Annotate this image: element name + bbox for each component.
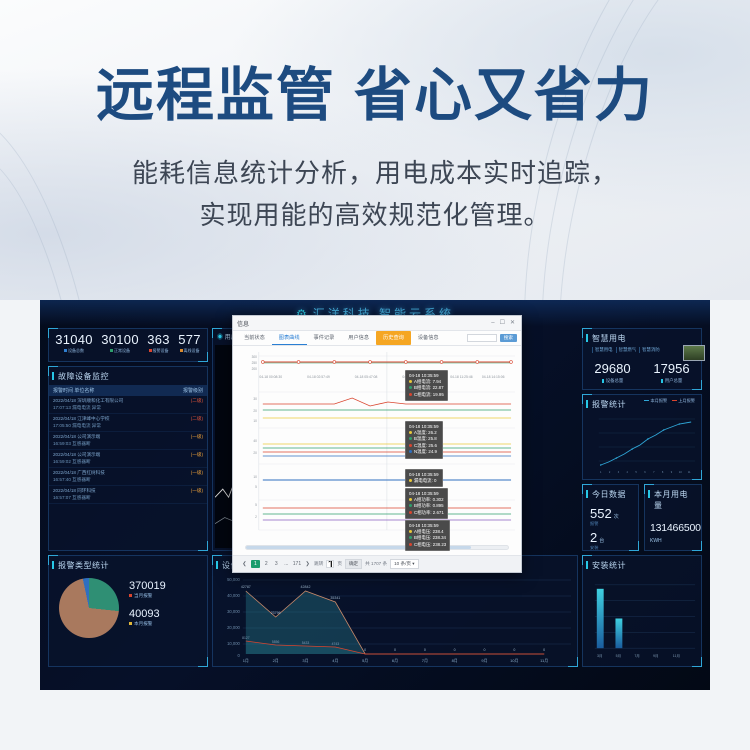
alarm-stats-panel: 报警统计 本月报警 上月报警 123 456 789 [582,394,702,480]
panel-title: 故障设备监控 [49,367,207,385]
smart-tab-power[interactable]: 智慧用电 [592,347,613,353]
svg-text:11月: 11月 [540,658,548,663]
legend-value: 370019 [129,580,166,592]
tab-current-status[interactable]: 当前状态 [237,331,272,345]
today-alarm: 552次 报警 [583,503,638,527]
row-time: 2022/04/18 同环科技 [53,488,96,494]
svg-text:50,000: 50,000 [227,577,240,582]
tab-event-log[interactable]: 事件记录 [307,331,342,345]
column-header-time: 报警时间 单位名称 [53,387,183,394]
row-time: 2022/04/18 公司演示端 [53,434,100,440]
row-detail: 16:59:02 互感器断 [53,459,203,465]
svg-text:4: 4 [627,470,629,474]
pie-chart[interactable] [59,578,119,638]
legend-value: 40093 [129,608,166,620]
dashboard-screenshot: ⚙汇洋科技 智能云系统 31040 设备总数 30100 正常设备 363 报警… [40,300,710,690]
page-headline: 远程监管 省心又省力 [0,62,750,130]
svg-text:5: 5 [255,485,257,489]
svg-text:23796: 23796 [271,611,281,615]
modal-title-bar: 信息 – ☐ ✕ [233,316,521,331]
svg-text:2月: 2月 [273,658,279,663]
kpi-panel: 31040 设备总数 30100 正常设备 363 报警设备 577 离线设备 [48,328,208,362]
kpi-label: 离线设备 [178,348,201,354]
svg-text:04-18 00:08:30: 04-18 00:08:30 [259,375,282,379]
row-level: (二级) [191,398,203,404]
maximize-icon[interactable]: ☐ [500,320,505,326]
kpi-item-total[interactable]: 31040 设备总数 [55,332,93,354]
svg-text:5: 5 [635,470,637,474]
subheadline-line-2: 实现用能的高效规范化管理。 [0,194,750,236]
window-controls: – ☐ ✕ [491,320,517,326]
svg-text:3: 3 [618,470,620,474]
svg-text:2: 2 [609,470,611,474]
modal-title: 信息 [237,319,491,328]
go-button[interactable]: 确定 [345,559,362,569]
minimize-icon[interactable]: – [491,320,494,326]
legend-current: 本月报警 [644,398,667,404]
table-row[interactable]: 2022/04/18 江津峰中心学校(二级) 17:05:50 漏电电流 异常 [49,414,207,432]
search-button[interactable]: 搜索 [500,334,517,342]
svg-text:7月: 7月 [634,653,639,658]
smart-tab-fire[interactable]: 智慧消防 [639,347,660,353]
legend-label: 当月报警 [129,593,166,599]
page-last[interactable]: 171 [293,561,301,567]
svg-text:250: 250 [252,361,258,365]
pagination-bar: ❮ 1 2 3 ... 171 ❯ 跳转 页 确定 共 1707 条 10 条/… [233,555,521,572]
tooltip-row: C相电流: 19.95 [409,392,444,398]
panel-title: 报警类型统计 [49,556,207,574]
kpi-value: 363 [147,332,170,347]
svg-text:10: 10 [253,419,257,423]
value: 29680 [594,361,630,376]
svg-text:2: 2 [255,515,257,519]
fault-table-body: 2022/04/18 深圳顺和化工有限公司(二级) 17:07:13 漏电电流 … [49,396,207,504]
area-chart[interactable]: 50,000 40,000 30,000 20,000 10,000 0 427… [215,570,575,664]
svg-text:35341: 35341 [330,596,340,600]
svg-text:40: 40 [253,439,257,443]
svg-text:11月: 11月 [673,653,680,658]
svg-text:0: 0 [364,648,366,652]
chart-svg: 04-18 00:08:30 04-18 02:57:49 04-18 05:4… [237,348,517,538]
kpi-item-normal[interactable]: 30100 正常设备 [101,332,139,354]
tooltip-time: 04-18 10:35:59 [409,472,439,477]
alarm-type-pie-panel: 报警类型统计 370019 当月报警 40093 本月报警 [48,555,208,667]
row-level: (一级) [191,488,203,494]
svg-text:1月: 1月 [243,658,249,663]
svg-text:6: 6 [644,470,646,474]
legend-previous: 上月报警 [672,398,695,404]
svg-text:7: 7 [653,470,655,474]
row-detail: 16:57:40 互感器断 [53,477,203,483]
tooltip-power: 04-18 10:35:59 A相功率: 0.302 B相功率: 0.895 C… [405,488,448,519]
pie-chart-wrap: 370019 当月报警 40093 本月报警 [49,574,207,638]
page-2[interactable]: 2 [263,561,270,567]
svg-text:9月: 9月 [653,653,658,658]
page-jump-input[interactable] [326,560,334,568]
svg-text:7月: 7月 [422,658,428,663]
svg-text:10,000: 10,000 [227,641,240,646]
svg-text:42842: 42842 [301,585,311,589]
row-time: 2022/04/18 公司演示端 [53,452,100,458]
location-dot-icon: ◉ [217,335,223,341]
consumption-unit: KWH [645,534,701,544]
svg-text:5月: 5月 [362,658,368,663]
tab-history-query[interactable]: 历史查询 [376,331,411,345]
svg-text:30,000: 30,000 [227,609,240,614]
chevron-down-icon: ▾ [412,561,414,566]
svg-text:0: 0 [454,648,456,652]
svg-text:11: 11 [688,470,691,474]
tooltip-current: 04-18 10:35:59 A相电流: 7.94 B相电流: 22.87 C相… [405,370,448,401]
svg-text:0: 0 [238,653,241,658]
jump-label: 跳转 [314,561,323,567]
tooltip-row: C相电压: 238.23 [409,542,446,548]
multi-series-chart[interactable]: 04-18 00:08:30 04-18 02:57:49 04-18 05:4… [237,348,517,538]
smart-value-devices: 29680 设备总量 [594,361,630,384]
panel-title: 今日数据 [583,485,638,503]
page-3[interactable]: 3 [273,561,280,567]
smart-value-users: 17956 用户总量 [653,361,689,384]
svg-text:10: 10 [679,470,682,474]
svg-text:20,000: 20,000 [227,625,240,630]
horizontal-scrollbar[interactable] [245,545,509,550]
svg-text:5: 5 [255,503,257,507]
row-level: (二级) [191,416,203,422]
page-subheadline: 能耗信息统计分析，用电成本实时追踪， 实现用能的高效规范化管理。 [0,152,750,236]
install-bar-svg: 3月5月7月 9月11月 [585,571,699,664]
kpi-value: 577 [178,332,201,347]
svg-text:0: 0 [424,648,426,652]
svg-text:0: 0 [543,648,545,652]
total-count: 共 1707 条 [365,561,387,567]
info-modal: 信息 – ☐ ✕ 当前状态 图表曲线 事件记录 用户信息 历史查询 设备信息 搜… [232,315,522,573]
row-level: (一级) [191,452,203,458]
tooltip-time: 04-18 10:35:59 [409,424,439,429]
value: 2台 [590,530,638,545]
page-unit: 页 [337,561,342,567]
tooltip-time: 04-18 10:35:59 [409,373,444,378]
svg-text:0: 0 [394,648,396,652]
svg-text:5月: 5月 [616,653,621,658]
alarm-line-svg: 123 456 789 1011 [585,411,699,477]
today-install: 2台 安装 [583,527,638,551]
page-size-select[interactable]: 10 条/页 ▾ [390,559,418,569]
subheadline-line-1: 能耗信息统计分析，用电成本实时追踪， [0,152,750,194]
svg-text:4743: 4743 [332,642,340,646]
row-detail: 16:59:03 互感器断 [53,441,203,447]
tooltip-time: 04-18 10:35:59 [409,491,444,496]
kpi-item-alarm[interactable]: 363 报警设备 [147,332,170,354]
tooltip-row: 漏电电流: 0 [409,478,439,484]
svg-text:5433: 5433 [302,641,310,645]
svg-text:10月: 10月 [510,658,518,663]
label: 用户总量 [653,378,689,384]
svg-text:8: 8 [662,470,664,474]
tooltip-time: 04-18 10:35:59 [409,523,446,528]
tooltip-voltage: 04-18 10:35:59 A相电压: 238.4 B相电压: 238.34 … [405,520,450,551]
kpi-label: 正常设备 [101,348,139,354]
alarm-line-chart[interactable]: 123 456 789 1011 [585,411,699,477]
modal-tab-bar: 当前状态 图表曲线 事件记录 用户信息 历史查询 设备信息 搜索 [233,331,521,346]
kpi-row: 31040 设备总数 30100 正常设备 363 报警设备 577 离线设备 [49,329,207,354]
svg-text:40,000: 40,000 [227,593,240,598]
tooltip-row: N温度: 24.9 [409,449,439,455]
chevron-left-icon[interactable]: ❮ [241,561,248,567]
fault-monitor-panel: 故障设备监控 报警时间 单位名称 报警级别 2022/04/18 深圳顺和化工有… [48,366,208,551]
column-header-level: 报警级别 [183,387,203,394]
svg-text:0: 0 [484,648,486,652]
svg-text:6月: 6月 [392,658,398,663]
svg-text:300: 300 [252,355,258,359]
tooltip-row: C相功率: 2.671 [409,510,444,516]
table-row[interactable]: 2022/04/18 公司演示端(一级) 16:59:02 互感器断 [49,450,207,468]
svg-text:9月: 9月 [481,658,487,663]
svg-text:5856: 5856 [272,640,280,644]
label: 安装 [590,545,638,551]
svg-text:04-18 02:57:49: 04-18 02:57:49 [307,375,330,379]
kpi-label: 报警设备 [147,348,170,354]
svg-text:200: 200 [252,367,258,371]
row-time: 2022/04/18 广西红树科技 [53,470,105,476]
svg-text:3月: 3月 [302,658,308,663]
month-consumption-panel: 本月用电量 131466500 KWH [644,484,702,551]
tab-device-info[interactable]: 设备信息 [411,331,446,345]
svg-text:20: 20 [253,451,257,455]
row-detail: 17:05:50 漏电电流 异常 [53,423,203,429]
tooltip-leakage: 04-18 10:35:59 漏电电流: 0 [405,469,443,487]
kpi-label: 设备总数 [55,348,93,354]
tab-user-info[interactable]: 用户信息 [341,331,376,345]
install-stats-panel: 安装统计 3月5月7月 9月11月 [582,555,702,667]
svg-text:8127: 8127 [242,636,250,640]
svg-text:4月: 4月 [332,658,338,663]
consumption-value: 131466500 [645,514,701,534]
legend-label: 本月报警 [129,621,166,627]
value: 552次 [590,506,638,521]
chevron-right-icon[interactable]: ❯ [304,561,311,567]
table-row[interactable]: 2022/04/18 同环科技(一级) 16:57:07 互感器断 [49,486,207,504]
camera-thumbnail[interactable] [683,345,705,361]
svg-text:10: 10 [253,475,257,479]
svg-text:9: 9 [671,470,673,474]
svg-text:04-18 05:47:08: 04-18 05:47:08 [355,375,378,379]
svg-text:04-18 14:15:06: 04-18 14:15:06 [482,375,505,379]
tab-chart-curve[interactable]: 图表曲线 [272,331,307,345]
svg-text:04-18 11:25:46: 04-18 11:25:46 [450,375,472,379]
table-row[interactable]: 2022/04/18 公司演示端(一级) 16:59:03 互感器断 [49,432,207,450]
tooltip-temperature: 04-18 10:35:59 A温度: 26.2 B温度: 25.8 C温度: … [405,421,443,459]
panel-title: 本月用电量 [645,485,701,514]
value: 17956 [653,361,689,376]
row-level: (一级) [191,470,203,476]
modal-search-area: 搜索 [467,334,517,342]
row-time: 2022/04/18 江津峰中心学校 [53,416,109,422]
svg-text:30: 30 [253,397,257,401]
search-input[interactable] [467,334,497,342]
area-chart-svg: 50,000 40,000 30,000 20,000 10,000 0 427… [215,570,575,664]
kpi-item-offline[interactable]: 577 离线设备 [178,332,201,354]
page-ellipsis: ... [283,561,290,567]
install-bar-chart[interactable]: 3月5月7月 9月11月 [585,571,699,664]
page-1[interactable]: 1 [251,560,260,568]
svg-text:8月: 8月 [452,658,458,663]
svg-text:20: 20 [253,409,257,413]
alarm-stats-legend: 本月报警 上月报警 [644,398,695,404]
label: 设备总量 [594,378,630,384]
svg-text:3月: 3月 [597,653,602,658]
kpi-value: 30100 [101,332,139,347]
svg-text:0: 0 [513,648,515,652]
row-time: 2022/04/18 深圳顺和化工有限公司 [53,398,123,404]
smart-tab-gas[interactable]: 智慧燃气 [616,347,637,353]
svg-text:1: 1 [600,470,602,474]
hero-banner [0,0,750,300]
pie-legend: 370019 当月报警 40093 本月报警 [129,580,166,636]
today-data-panel: 今日数据 552次 报警 2台 安装 [582,484,639,551]
table-row[interactable]: 2022/04/18 深圳顺和化工有限公司(二级) 17:07:13 漏电电流 … [49,396,207,414]
table-row[interactable]: 2022/04/18 广西红树科技(一级) 16:57:40 互感器断 [49,468,207,486]
svg-text:42787: 42787 [241,585,251,589]
kpi-value: 31040 [55,332,93,347]
table-header: 报警时间 单位名称 报警级别 [49,385,207,396]
row-detail: 17:07:13 漏电电流 异常 [53,405,203,411]
row-level: (一级) [191,434,203,440]
row-detail: 16:57:07 互感器断 [53,495,203,501]
close-icon[interactable]: ✕ [510,320,515,326]
